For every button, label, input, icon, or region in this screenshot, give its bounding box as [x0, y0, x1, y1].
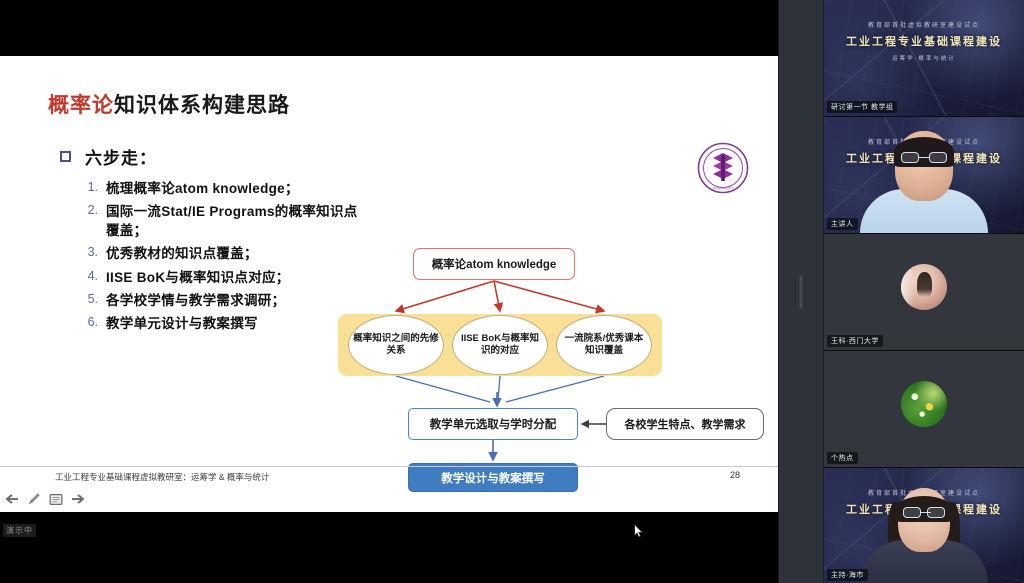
step-number: 1.: [84, 179, 106, 194]
lead-bullet-row: 六步走：: [60, 144, 360, 169]
diagram-node-atom-knowledge: 概率论atom knowledge: [413, 248, 575, 280]
step-text: 国际一流Stat/IE Programs的概率知识点覆盖；: [106, 202, 360, 240]
lead-bullet-label: 六步走：: [85, 144, 157, 169]
mouse-cursor-icon: [634, 524, 643, 538]
divider-grip-handle[interactable]: [800, 275, 803, 309]
presentation-slide[interactable]: 概率论知识体系构建思路 UNIVERSITY 六步走：: [0, 56, 778, 512]
bullet-list-block: 六步走： 1.梳理概率论atom knowledge； 2.国际一流Stat/I…: [60, 144, 360, 337]
shared-content-stage: 概率论知识体系构建思路 UNIVERSITY 六步走：: [0, 0, 778, 583]
step-text: 各学校学情与教学需求调研；: [106, 291, 285, 310]
tile-participant-avatar-2[interactable]: 个热点: [824, 351, 1024, 468]
next-slide-icon[interactable]: [70, 492, 85, 507]
video-participant-filmstrip: 教育部首批虚拟教研室建设试点 工业工程专业基础课程建设 运筹学·概率与统计 研讨…: [824, 0, 1024, 583]
step-text: 教学单元设计与教案撰写: [106, 314, 258, 333]
step-number: 4.: [84, 268, 106, 283]
diagram-ellipse-prerequisite: 概率知识之间的先修关系: [348, 315, 444, 375]
diagram-node-teaching-unit: 教学单元选取与学时分配: [408, 408, 578, 440]
eyeglasses-icon: [903, 507, 945, 518]
knowledge-flow-diagram: 概率论atom knowledge 概率知识之间的先修关系 IISE BoK与概…: [330, 186, 770, 496]
slide-thumbnail-background: [824, 0, 1024, 116]
step-number: 6.: [84, 314, 106, 329]
diagram-node-school-needs: 各校学生特点、教学需求: [606, 408, 764, 440]
avatar: [901, 264, 947, 310]
tile-participant-female[interactable]: 教育部首批虚拟教研室建设试点 工业工程专业基础课程建设 运筹学 主持·海市: [824, 468, 1024, 583]
participant-name-label: 个热点: [827, 452, 858, 464]
slide-footer-text: 工业工程专业基础课程虚拟教研室：运筹学 & 概率与统计: [55, 471, 269, 483]
panel-resize-divider[interactable]: [778, 0, 824, 583]
square-bullet-icon: [60, 151, 71, 162]
participant-name-label: 王科·西门大学: [827, 335, 883, 347]
participant-name-label: 研讨第一节 教学组: [827, 101, 897, 113]
step-text: IISE BoK与概率知识点对应；: [106, 268, 290, 287]
page-title-rest: 知识体系构建思路: [114, 94, 290, 117]
eyeglasses-icon: [901, 152, 947, 163]
participant-name-label: 主持·海市: [827, 569, 868, 581]
step-number: 5.: [84, 291, 106, 306]
list-item: 2.国际一流Stat/IE Programs的概率知识点覆盖；: [84, 202, 360, 240]
diagram-ellipse-iise-bok: IISE BoK与概率知识的对应: [452, 315, 548, 375]
list-item: 5.各学校学情与教学需求调研；: [84, 291, 360, 310]
numbered-step-list: 1.梳理概率论atom knowledge； 2.国际一流Stat/IE Pro…: [84, 179, 360, 333]
step-number: 3.: [84, 244, 106, 259]
diagram-ellipse-textbook-coverage: 一流院系/优秀课本知识覆盖: [556, 315, 652, 375]
pen-annotation-icon[interactable]: [26, 492, 41, 507]
list-item: 1.梳理概率论atom knowledge；: [84, 179, 360, 198]
tile-participant-male[interactable]: 教育部首批虚拟教研室建设试点 工业工程专业基础课程建设 运筹学 主讲人: [824, 117, 1024, 234]
previous-slide-icon[interactable]: [4, 492, 19, 507]
screen-share-status-label: 演示中: [3, 524, 36, 537]
list-item: 4.IISE BoK与概率知识点对应；: [84, 268, 360, 287]
meeting-screenshare-window: 概率论知识体系构建思路 UNIVERSITY 六步走：: [0, 0, 1024, 583]
tile-participant-avatar-1[interactable]: 王科·西门大学: [824, 234, 1024, 351]
step-number: 2.: [84, 202, 106, 217]
notes-icon[interactable]: [48, 492, 63, 507]
list-item: 6.教学单元设计与教案撰写: [84, 314, 360, 333]
step-text: 梳理概率论atom knowledge；: [106, 179, 299, 198]
page-title: 概率论知识体系构建思路: [48, 89, 290, 119]
slide-footer: 工业工程专业基础课程虚拟教研室：运筹学 & 概率与统计 28: [0, 466, 778, 486]
list-item: 3.优秀教材的知识点覆盖；: [84, 244, 360, 263]
page-title-highlight: 概率论: [48, 94, 114, 117]
participant-name-label: 主讲人: [827, 218, 858, 230]
slide-page-number: 28: [730, 470, 740, 480]
avatar: [901, 381, 947, 427]
step-text: 优秀教材的知识点覆盖；: [106, 244, 258, 263]
annotation-toolbar[interactable]: [4, 489, 85, 509]
tile-shared-slide[interactable]: 教育部首批虚拟教研室建设试点 工业工程专业基础课程建设 运筹学·概率与统计 研讨…: [824, 0, 1024, 117]
